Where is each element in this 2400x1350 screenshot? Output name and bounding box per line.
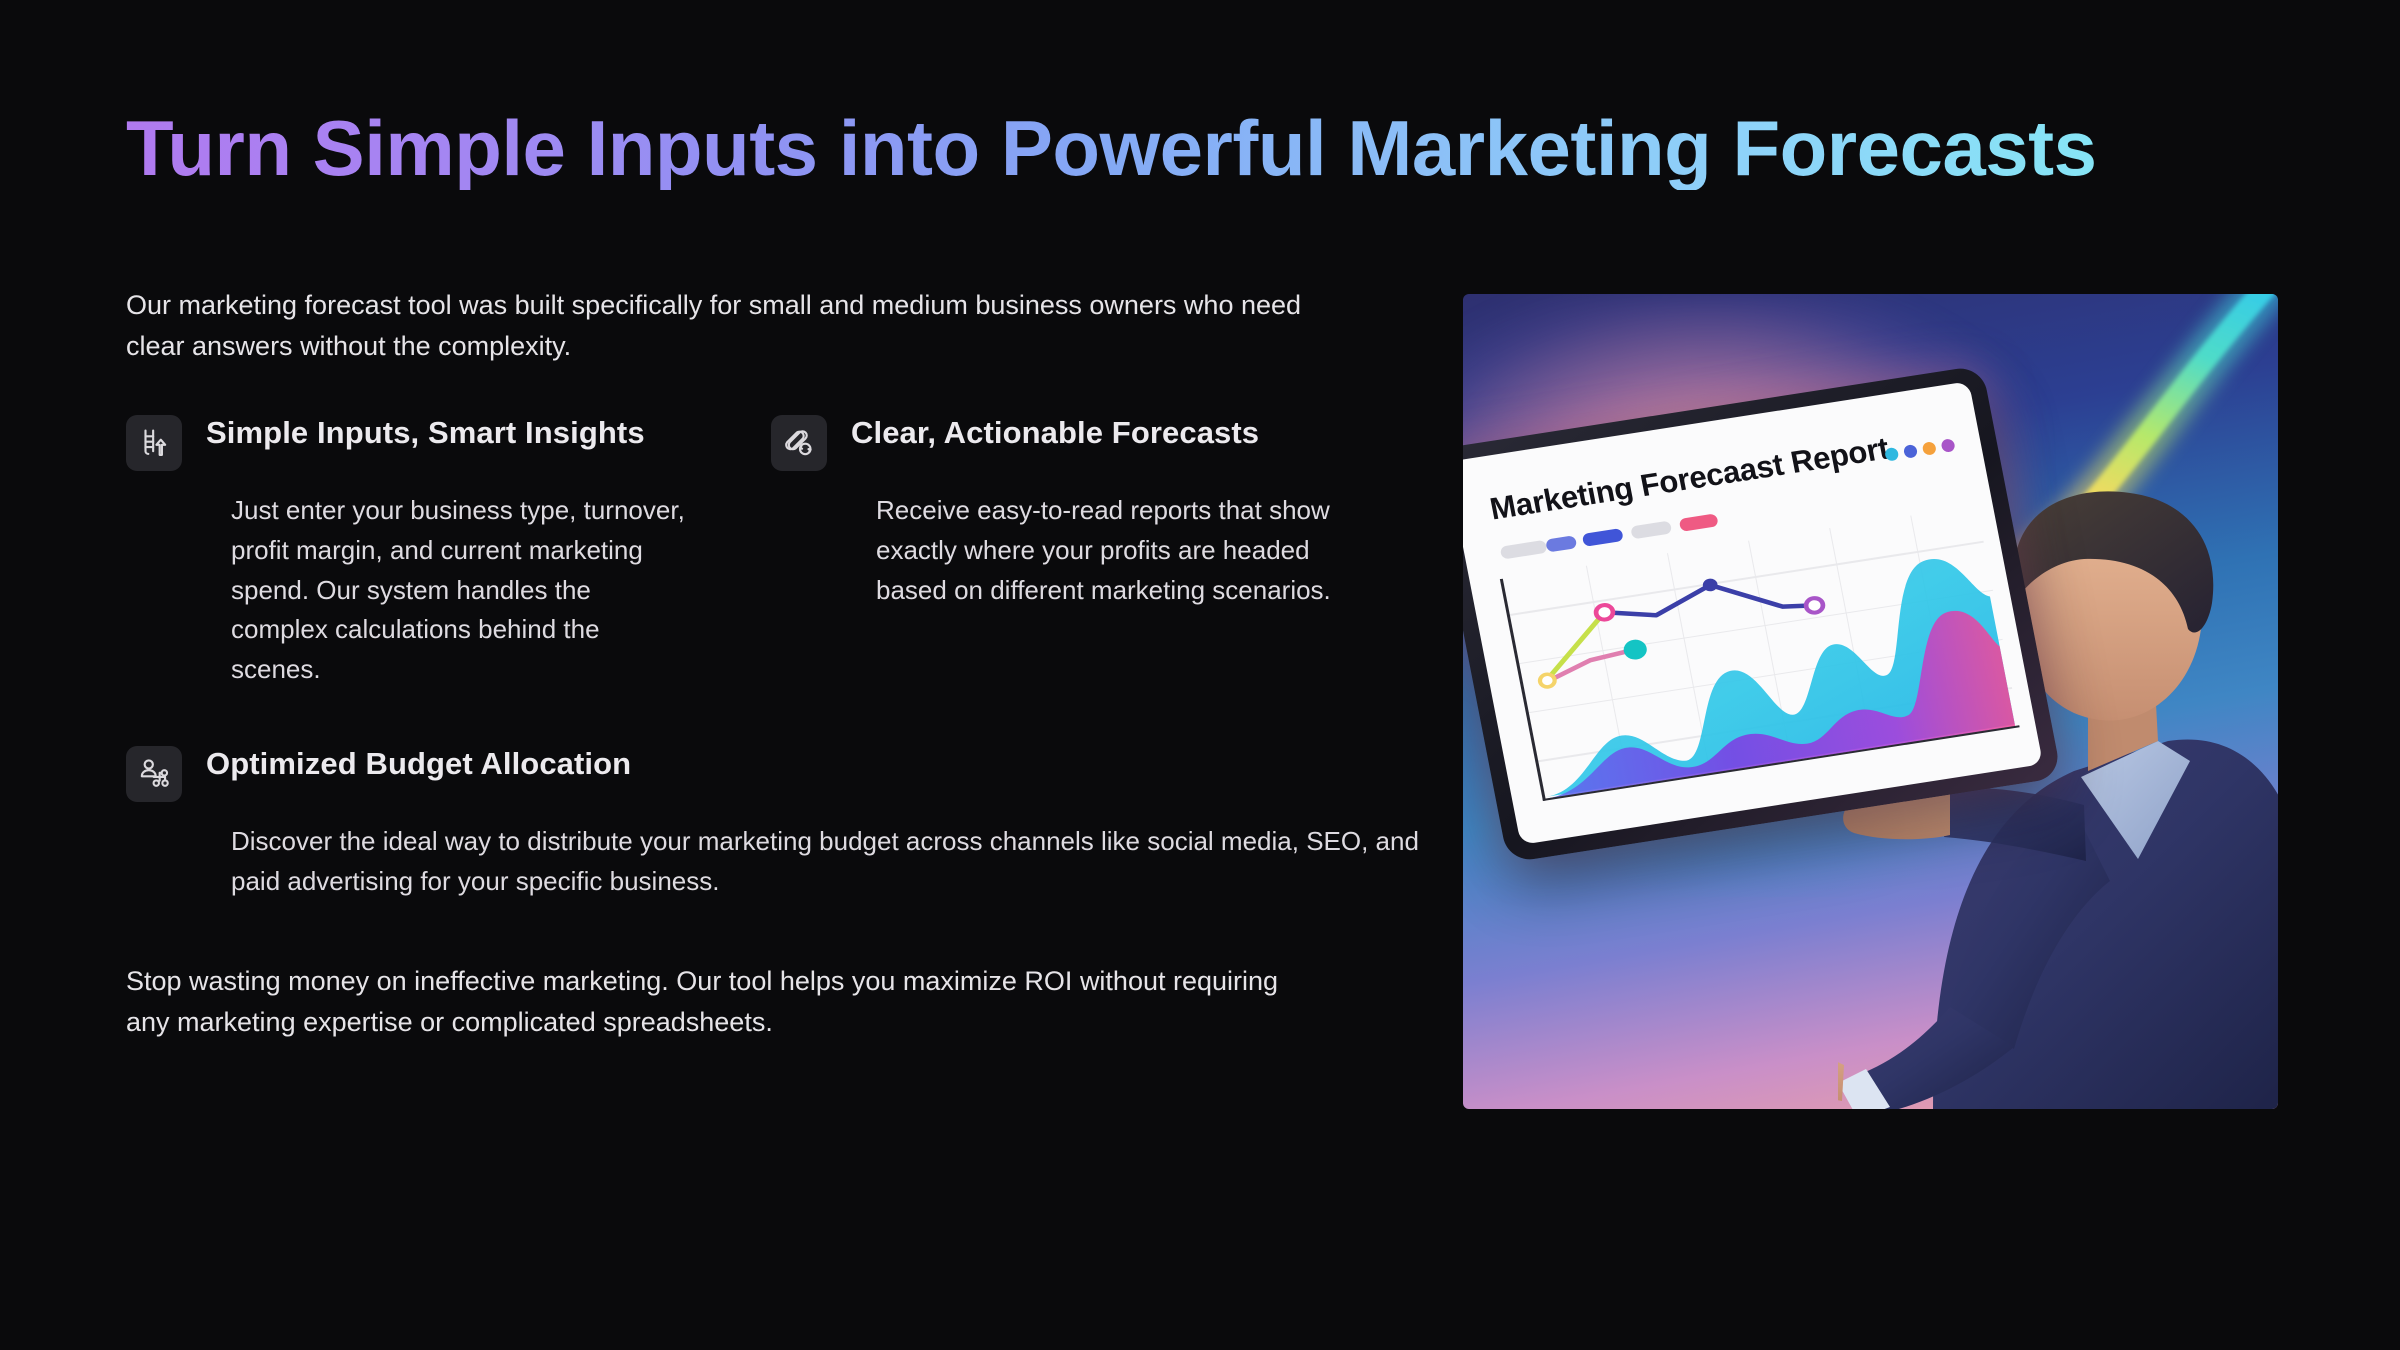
feature-list: Simple Inputs, Smart Insights Just enter… [126, 411, 1416, 953]
legend-pill-1 [1500, 540, 1548, 560]
feature-item-actionable-forecasts: Clear, Actionable Forecasts Receive easy… [771, 411, 1416, 690]
feature-title: Clear, Actionable Forecasts [851, 411, 1259, 451]
status-dots [1884, 438, 1956, 461]
feature-header: Simple Inputs, Smart Insights [126, 411, 771, 471]
data-marker-purple [1805, 597, 1824, 614]
tablet-screen[interactable]: Marketing Forecaast Report [1463, 381, 2043, 845]
slide-root: Turn Simple Inputs into Powerful Marketi… [0, 0, 2400, 1350]
feature-body: Just enter your business type, turnover,… [231, 491, 691, 690]
legend-pill-4 [1630, 520, 1672, 539]
forecast-chart [1500, 505, 2020, 801]
legend-pill-3 [1582, 528, 1624, 547]
status-dot-2 [1903, 444, 1918, 459]
data-marker-yellow [1539, 673, 1556, 688]
chart-series-layer [1500, 505, 2020, 801]
feature-title: Optimized Budget Allocation [206, 742, 631, 782]
status-dot-3 [1922, 441, 1937, 456]
status-dot-4 [1940, 438, 1955, 453]
feature-body: Discover the ideal way to distribute you… [231, 822, 1421, 902]
status-dot-1 [1884, 447, 1899, 462]
outro-paragraph: Stop wasting money on ineffective market… [126, 961, 1326, 1043]
tablet-device[interactable]: Marketing Forecaast Report [1463, 365, 2062, 863]
feature-header: Clear, Actionable Forecasts [771, 411, 1416, 471]
feature-title: Simple Inputs, Smart Insights [206, 411, 645, 451]
content-column: Our marketing forecast tool was built sp… [126, 285, 1416, 1043]
feature-item-budget-allocation: Optimized Budget Allocation Discover the… [126, 742, 1416, 902]
businessman-holding-tablet-photo: Marketing Forecaast Report [1463, 294, 2278, 1109]
feature-body: Receive easy-to-read reports that show e… [876, 491, 1336, 610]
data-marker-pink [1595, 604, 1614, 621]
atom-refresh-icon [771, 415, 827, 471]
user-network-icon [126, 746, 182, 802]
legend-pill-5 [1679, 513, 1719, 532]
legend-pill-2 [1545, 535, 1577, 552]
page-title: Turn Simple Inputs into Powerful Marketi… [126, 108, 2306, 190]
ladder-up-arrow-icon [126, 415, 182, 471]
feature-item-simple-inputs: Simple Inputs, Smart Insights Just enter… [126, 411, 771, 690]
data-marker-teal [1622, 638, 1649, 661]
intro-paragraph: Our marketing forecast tool was built sp… [126, 285, 1326, 367]
feature-header: Optimized Budget Allocation [126, 742, 1416, 802]
